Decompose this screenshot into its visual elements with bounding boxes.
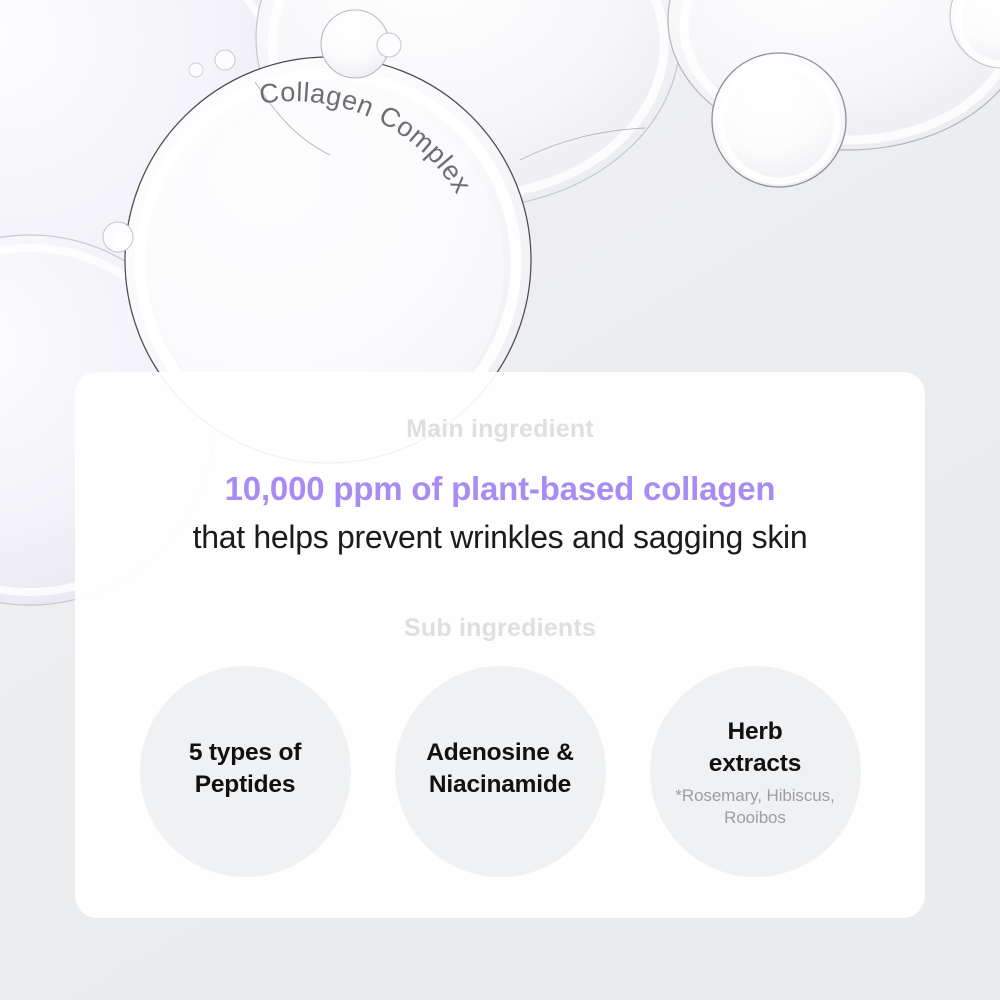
ingredient-title: Adenosine & Niacinamide xyxy=(426,737,574,802)
ingredient-title: 5 types of Peptides xyxy=(189,737,301,802)
main-ingredient-label: Main ingredient xyxy=(75,414,925,444)
headline-sub-text: that helps prevent wrinkles and sagging … xyxy=(75,517,925,559)
ingredient-title: Herb extracts xyxy=(709,716,801,781)
product-infographic: Collagen Complex Main ingredient 10,000 … xyxy=(0,0,1000,1000)
ingredient-note: *Rosemary, Hibiscus, Rooibos xyxy=(675,785,834,828)
ingredient-info-card: Main ingredient 10,000 ppm of plant-base… xyxy=(75,372,925,918)
ingredient-circle-adenosine-niacinamide: Adenosine & Niacinamide xyxy=(395,666,606,877)
sub-ingredients-label: Sub ingredients xyxy=(75,613,925,643)
sub-ingredients-row: 5 types of Peptides Adenosine & Niacinam… xyxy=(75,666,925,877)
sub-ingredients-label-wrap: Sub ingredients xyxy=(75,613,925,643)
main-ingredient-headline: 10,000 ppm of plant-based collagen that … xyxy=(75,468,925,558)
bubble-right-medium xyxy=(712,53,846,187)
headline-accent-text: 10,000 ppm of plant-based collagen xyxy=(75,468,925,511)
ingredient-circle-herb-extracts: Herb extracts *Rosemary, Hibiscus, Rooib… xyxy=(650,666,861,877)
ingredient-circle-peptides: 5 types of Peptides xyxy=(140,666,351,877)
